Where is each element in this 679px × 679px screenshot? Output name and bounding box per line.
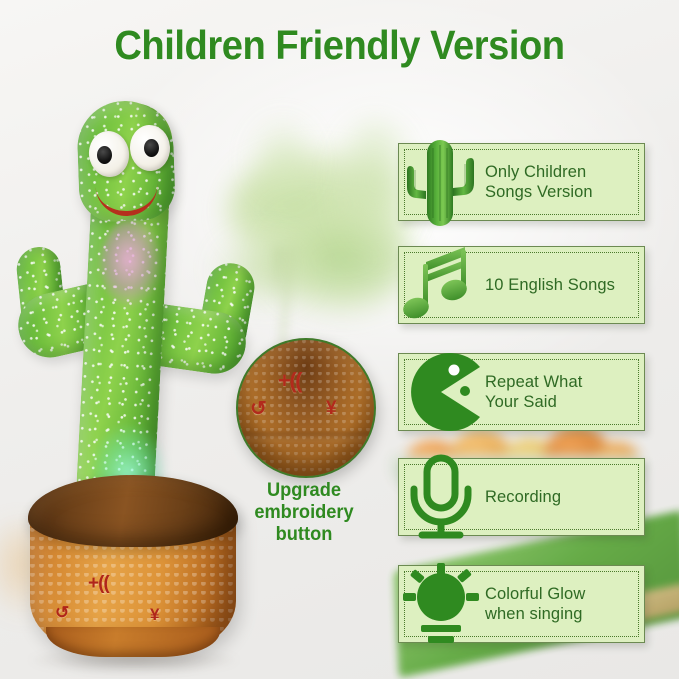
fabric-seam (236, 432, 376, 442)
feature-list: Only Children Songs Version (398, 0, 679, 679)
callout-caption-line-2: embroidery (225, 502, 382, 524)
feature-item-only-children-songs[interactable]: Only Children Songs Version (398, 143, 645, 221)
pot-rim (28, 475, 238, 547)
feature-label: Recording (485, 487, 641, 507)
infographic-canvas: Children Friendly Version +(( ↺ ¥ +(( (0, 0, 679, 679)
feature-label: Repeat What Your Said (485, 372, 641, 412)
feature-label: 10 English Songs (485, 275, 641, 295)
plush-pot: +(( ↺ ¥ (30, 455, 236, 660)
callout-caption: Upgrade embroidery button (225, 480, 382, 546)
cactus-left-pupil (97, 146, 112, 164)
cactus-right-pupil (144, 139, 159, 157)
power-repeat-button[interactable]: ↺ (250, 396, 267, 421)
feature-label: Only Children Songs Version (485, 162, 641, 202)
callout-caption-line-3: button (225, 524, 382, 546)
feature-item-10-english-songs[interactable]: 10 English Songs (398, 246, 645, 324)
feature-item-recording[interactable]: Recording (398, 458, 645, 536)
pot-foot (46, 627, 220, 657)
volume-button[interactable]: +(( (278, 368, 301, 394)
callout-magnifier-circle: +(( ↺ ¥ (236, 338, 376, 478)
upgrade-embroidery-button-callout: +(( ↺ ¥ Upgrade embroidery button (236, 338, 372, 474)
feature-item-repeat-what-you-said[interactable]: Repeat What Your Said (398, 353, 645, 431)
feature-item-colorful-glow[interactable]: Colorful Glow when singing (398, 565, 645, 643)
callout-caption-line-1: Upgrade (225, 480, 382, 502)
volume-button[interactable]: +(( (88, 573, 109, 595)
microphone-button[interactable]: ¥ (150, 605, 159, 625)
microphone-button[interactable]: ¥ (326, 398, 337, 420)
cactus-glow-patch (100, 220, 162, 308)
feature-label: Colorful Glow when singing (485, 584, 641, 624)
power-repeat-button[interactable]: ↺ (55, 603, 69, 623)
